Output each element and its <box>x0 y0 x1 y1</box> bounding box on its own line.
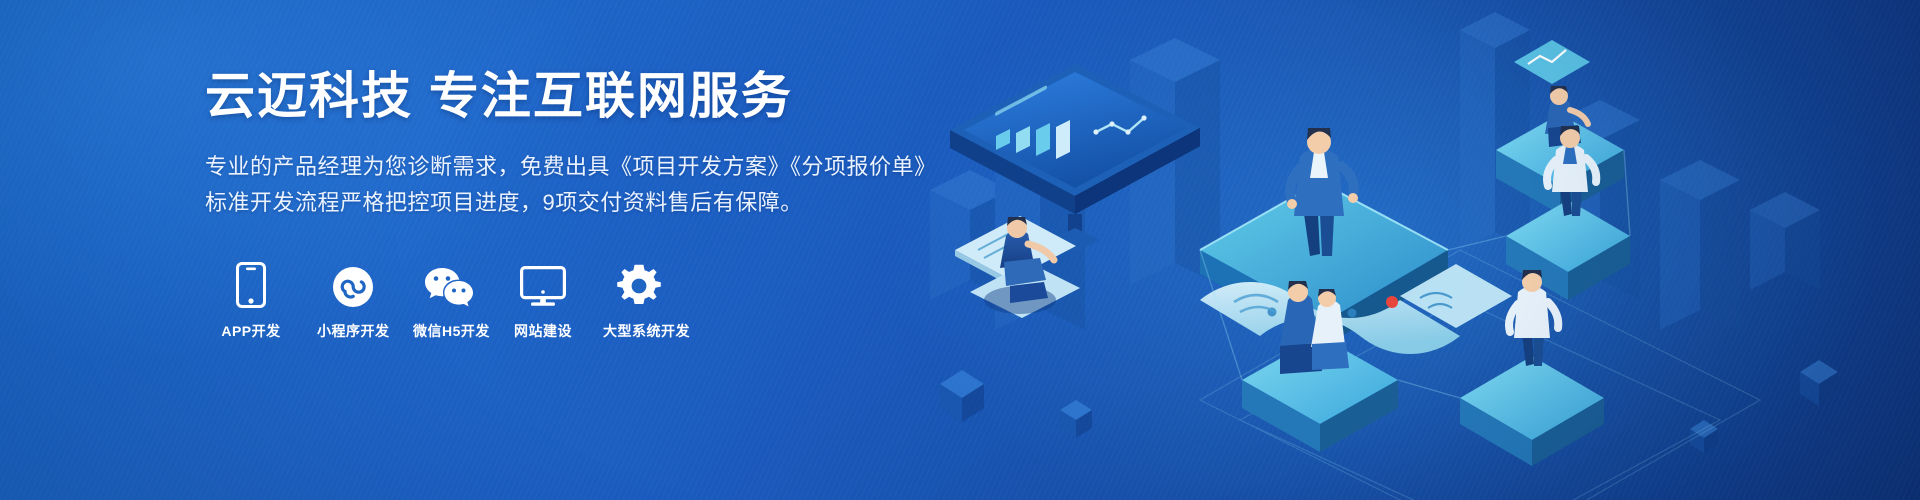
service-item-app[interactable]: APP开发 <box>215 262 287 341</box>
service-label: 小程序开发 <box>317 321 389 341</box>
hero-banner: 云迈科技 专注互联网服务 专业的产品经理为您诊断需求，免费出具《项目开发方案》《… <box>0 0 1920 500</box>
service-label: 大型系统开发 <box>603 321 675 341</box>
service-item-large-system[interactable]: 大型系统开发 <box>603 262 675 341</box>
service-label: APP开发 <box>215 321 287 341</box>
wechat-icon <box>413 262 485 308</box>
service-item-wechat-h5[interactable]: 微信H5开发 <box>413 262 485 341</box>
service-label: 网站建设 <box>507 321 579 341</box>
service-list: APP开发 小程序开发 <box>205 262 905 341</box>
platform-bottom-right <box>1460 356 1604 466</box>
subtitle-line-1: 专业的产品经理为您诊断需求，免费出具《项目开发方案》《分项报价单》 <box>205 149 905 185</box>
hero-content: 云迈科技 专注互联网服务 专业的产品经理为您诊断需求，免费出具《项目开发方案》《… <box>205 66 905 341</box>
monitor-icon <box>507 262 579 308</box>
page-title: 云迈科技 专注互联网服务 <box>205 66 905 127</box>
illustration-isometric-tech-team <box>900 0 1920 500</box>
subtitle-line-2: 标准开发流程严格把控项目进度，9项交付资料售后有保障。 <box>205 185 905 221</box>
mini-program-icon <box>317 262 389 308</box>
gear-icon <box>603 262 675 308</box>
service-item-website[interactable]: 网站建设 <box>507 262 579 341</box>
mobile-phone-icon <box>215 262 287 308</box>
service-label: 微信H5开发 <box>413 321 485 341</box>
service-item-mini-program[interactable]: 小程序开发 <box>317 262 389 341</box>
